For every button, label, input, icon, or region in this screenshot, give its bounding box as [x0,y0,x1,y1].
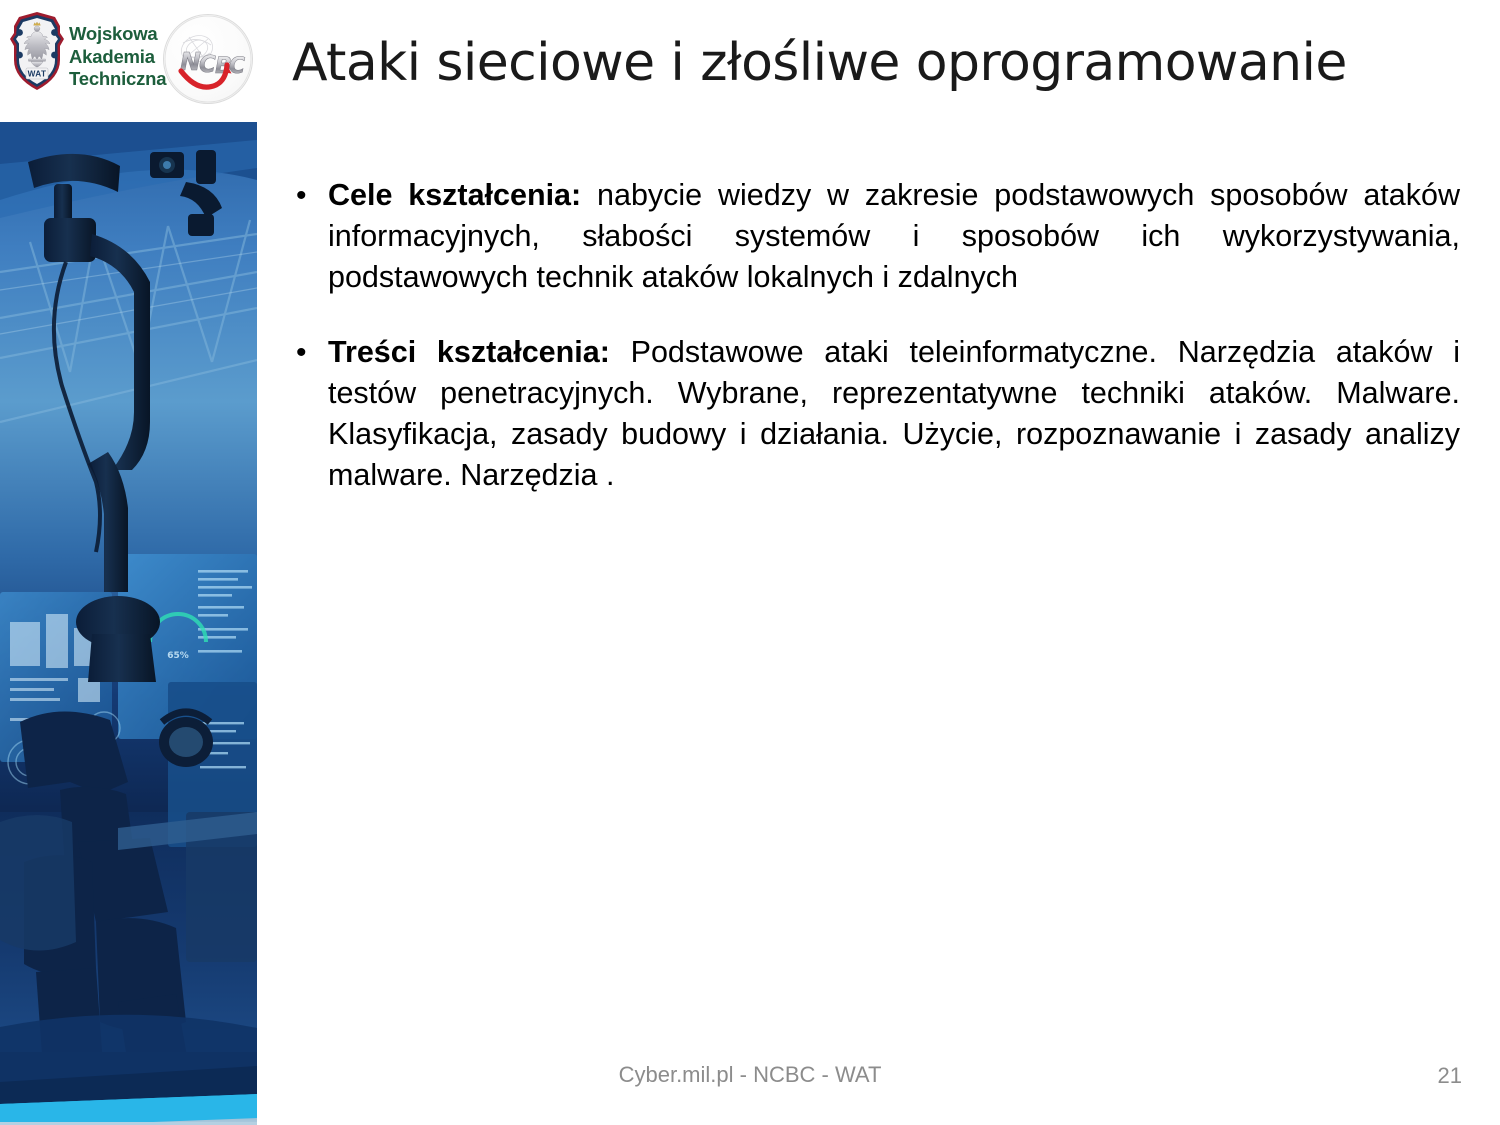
slide-root: WAT Wojskowa Akademia Techniczna [0,0,1500,1125]
body-content: • Cele kształcenia: nabycie wiedzy w zak… [292,175,1460,530]
bullet-text: Cele kształcenia: nabycie wiedzy w zakre… [328,175,1460,298]
bullet-marker: • [292,332,328,373]
bullet-marker: • [292,175,328,216]
logo-bar: WAT Wojskowa Akademia Techniczna [0,0,270,118]
wordmark-line-1: Wojskowa [69,23,166,46]
list-item: • Treści kształcenia: Podstawowe ataki t… [292,332,1460,496]
footer-text: Cyber.mil.pl - NCBC - WAT [0,1062,1500,1088]
svg-text:C: C [199,52,216,78]
wat-crest-icon: WAT [8,10,66,92]
svg-text:C: C [229,54,245,79]
svg-text:65%: 65% [167,651,189,661]
page-number: 21 [1438,1063,1462,1089]
svg-text:WAT: WAT [28,70,47,79]
bullet-lead-label: Cele kształcenia: [328,178,581,212]
wordmark-line-2: Akademia [69,46,166,69]
wat-wordmark: Wojskowa Akademia Techniczna [69,23,166,91]
ncbc-circular-logo-icon: N C B C [163,14,253,104]
page-title: Ataki sieciowe i złośliwe oprogramowanie [292,32,1472,94]
bullet-text: Treści kształcenia: Podstawowe ataki tel… [328,332,1460,496]
wordmark-line-3: Techniczna [69,68,166,91]
bullet-lead-label: Treści kształcenia: [328,335,610,369]
list-item: • Cele kształcenia: nabycie wiedzy w zak… [292,175,1460,298]
cyber-lab-photo: 65% [0,122,257,1125]
